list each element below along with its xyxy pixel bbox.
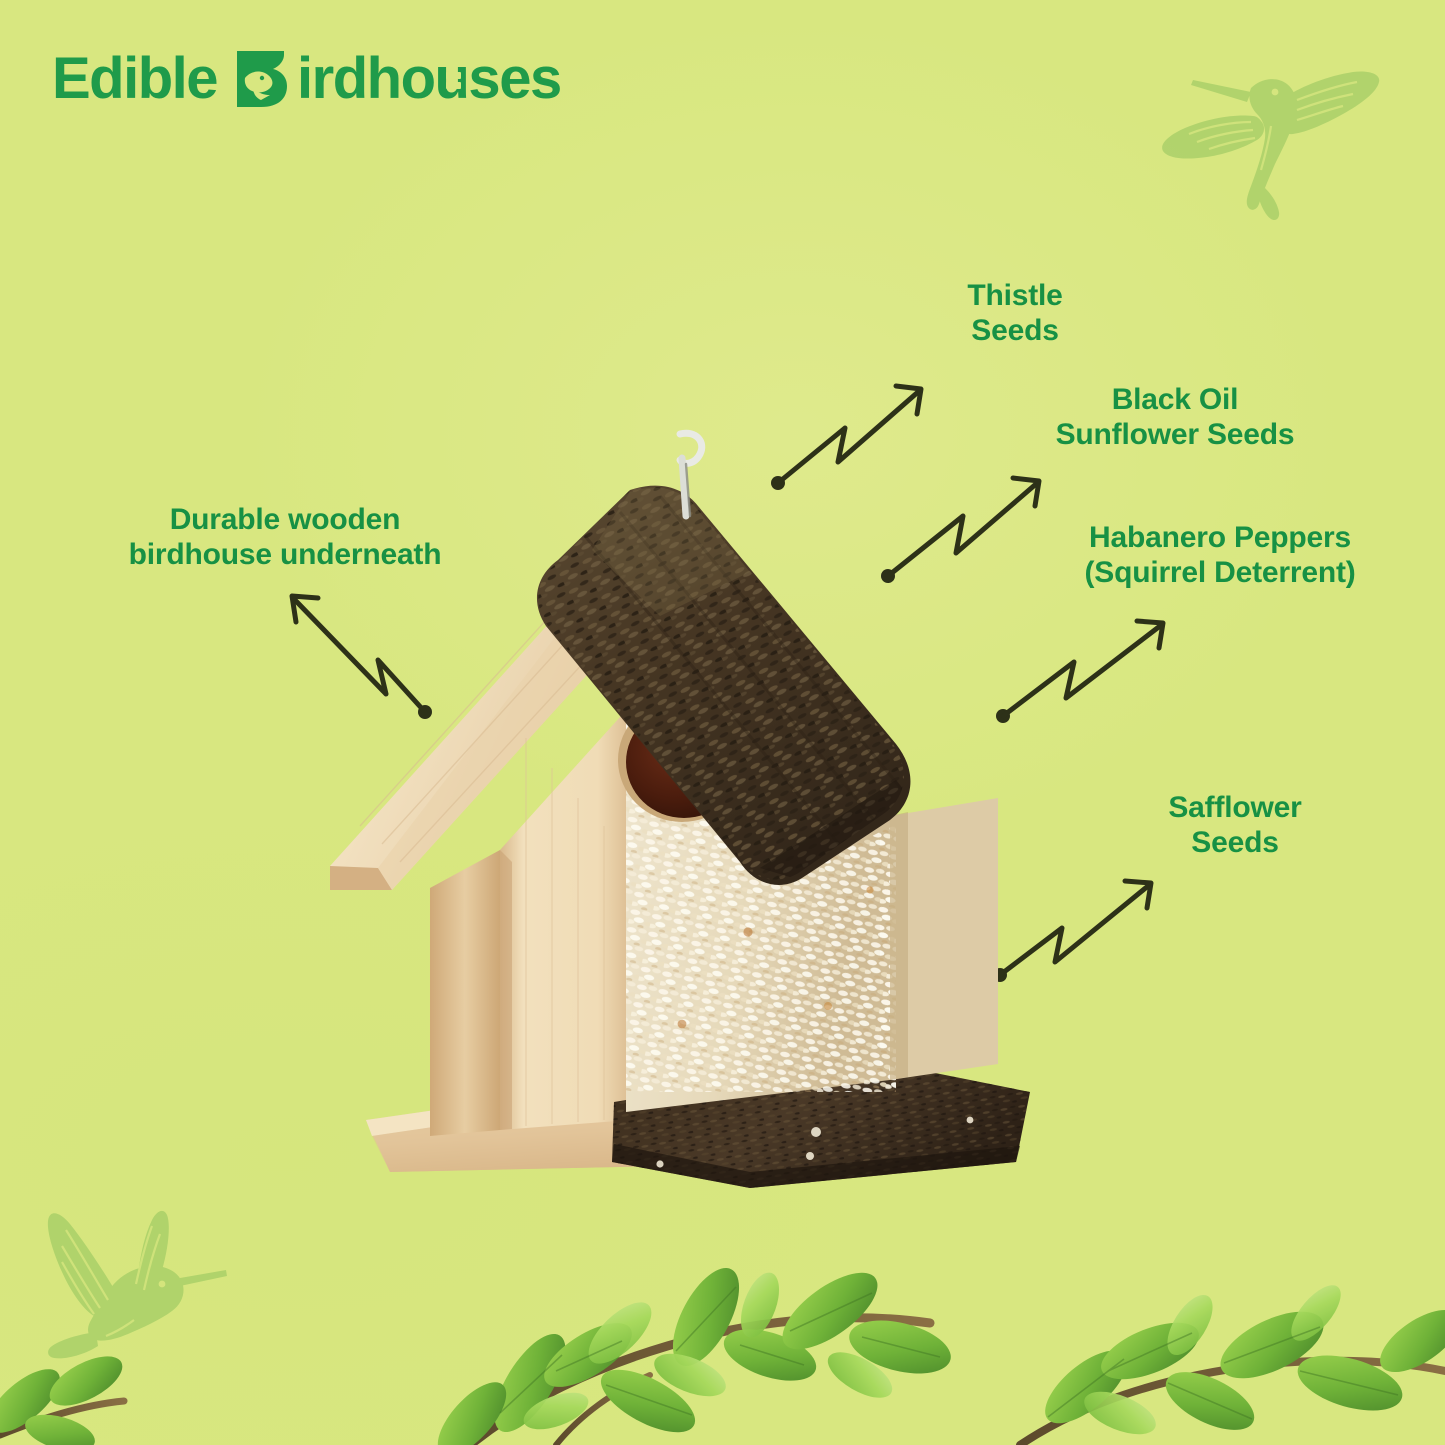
callout-line: Black Oil <box>1025 382 1325 417</box>
callout-label-safflower: Safflower Seeds <box>1110 790 1360 861</box>
callout-label-thistle: Thistle Seeds <box>905 278 1125 349</box>
brand-word-edible: Edible <box>52 50 217 108</box>
callout-line: Safflower <box>1110 790 1360 825</box>
brand-word-text: irdhouses <box>297 46 561 111</box>
callout-line: Thistle <box>905 278 1125 313</box>
callout-line: Seeds <box>905 313 1125 348</box>
foliage-decoration <box>0 1205 1445 1445</box>
leafy-branch-icon <box>0 1346 130 1445</box>
callout-line: Sunflower Seeds <box>1025 417 1325 452</box>
infographic-canvas: Edible irdhouses <box>0 0 1445 1445</box>
callout-line: Seeds <box>1110 825 1360 860</box>
callout-line: (Squirrel Deterrent) <box>1035 555 1405 590</box>
product-birdhouse-image <box>330 420 1060 1220</box>
callout-line: Habanero Peppers <box>1035 520 1405 555</box>
hummingbird-icon <box>30 1208 255 1383</box>
bird-leaf-b-icon <box>231 48 289 110</box>
hummingbird-icon <box>1147 52 1397 227</box>
brand-logo: Edible irdhouses <box>52 48 561 110</box>
callout-label-black-oil-sunflower: Black Oil Sunflower Seeds <box>1025 382 1325 453</box>
leafy-branch-icon <box>426 1258 956 1445</box>
brand-word-birdhouses: irdhouses <box>297 50 561 108</box>
callout-label-habanero-peppers: Habanero Peppers (Squirrel Deterrent) <box>1035 520 1405 591</box>
leafy-branch-icon <box>1020 1277 1445 1445</box>
